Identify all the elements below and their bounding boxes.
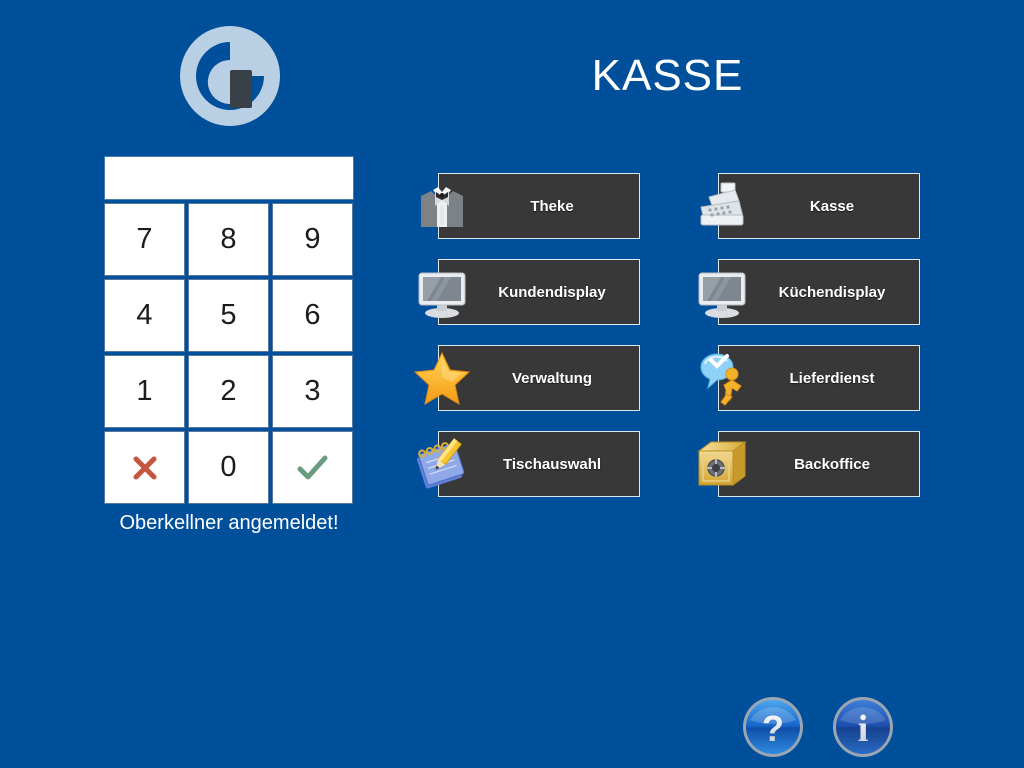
keypad-confirm-button[interactable] <box>272 431 353 504</box>
page-title: KASSE <box>440 48 895 104</box>
cash-register-icon <box>691 175 753 237</box>
menu-button-label: Kasse <box>784 198 854 215</box>
info-button[interactable]: i <box>832 696 894 758</box>
keypad-key-3[interactable]: 3 <box>272 355 353 428</box>
key-label: 4 <box>136 299 152 332</box>
menu-button-backoffice[interactable]: Backoffice <box>718 431 920 497</box>
key-label: 6 <box>304 299 320 332</box>
keypad-key-1[interactable]: 1 <box>104 355 185 428</box>
menu-button-kundendisplay[interactable]: Kundendisplay <box>438 259 640 325</box>
keypad-key-6[interactable]: 6 <box>272 279 353 352</box>
key-label: 0 <box>220 451 236 484</box>
menu-button-label: Theke <box>504 198 573 215</box>
menu-button-theke[interactable]: Theke <box>438 173 640 239</box>
menu-button-label: Tischauswahl <box>477 456 601 473</box>
menu-button-tischauswahl[interactable]: Tischauswahl <box>438 431 640 497</box>
safe-icon <box>691 433 753 495</box>
waiter-suit-icon <box>411 175 473 237</box>
keypad-key-2[interactable]: 2 <box>188 355 269 428</box>
bottom-icon-bar: ? i <box>742 696 894 758</box>
keypad-display-field[interactable] <box>104 156 354 200</box>
key-label: 1 <box>136 375 152 408</box>
svg-text:i: i <box>858 708 869 750</box>
monitor-icon <box>691 261 753 323</box>
keypad-key-8[interactable]: 8 <box>188 203 269 276</box>
menu-button-kasse[interactable]: Kasse <box>718 173 920 239</box>
help-button[interactable]: ? <box>742 696 804 758</box>
keypad-key-9[interactable]: 9 <box>272 203 353 276</box>
keypad-key-7[interactable]: 7 <box>104 203 185 276</box>
keypad-key-4[interactable]: 4 <box>104 279 185 352</box>
menu-button-lieferdienst[interactable]: Lieferdienst <box>718 345 920 411</box>
menu-button-label: Verwaltung <box>486 370 592 387</box>
menu-button-verwaltung[interactable]: Verwaltung <box>438 345 640 411</box>
delivery-person-phone-icon <box>691 347 753 409</box>
keypad-cancel-button[interactable] <box>104 431 185 504</box>
menu-button-label: Küchendisplay <box>753 284 886 301</box>
svg-text:?: ? <box>762 708 784 749</box>
menu-button-label: Lieferdienst <box>763 370 874 387</box>
key-label: 9 <box>304 223 320 256</box>
menu-button-label: Kundendisplay <box>472 284 606 301</box>
check-icon <box>294 451 332 485</box>
star-icon <box>411 347 473 409</box>
menu-column-left: Theke Kundendisplay <box>438 173 640 517</box>
key-label: 8 <box>220 223 236 256</box>
notepad-pencil-icon <box>411 433 473 495</box>
key-label: 3 <box>304 375 320 408</box>
key-label: 2 <box>220 375 236 408</box>
menu-button-kuechendisplay[interactable]: Küchendisplay <box>718 259 920 325</box>
keypad-panel: 7 8 9 4 5 6 1 2 3 <box>104 156 354 536</box>
keypad-key-0[interactable]: 0 <box>188 431 269 504</box>
company-logo <box>180 26 280 126</box>
menu-column-right: Kasse Küchendisplay Li <box>718 173 920 517</box>
cross-icon <box>128 451 162 485</box>
key-label: 5 <box>220 299 236 332</box>
key-label: 7 <box>136 223 152 256</box>
keypad-grid: 7 8 9 4 5 6 1 2 3 <box>104 203 354 504</box>
keypad-key-5[interactable]: 5 <box>188 279 269 352</box>
menu-button-label: Backoffice <box>768 456 870 473</box>
monitor-icon <box>411 261 473 323</box>
login-status-text: Oberkellner angemeldet! <box>104 510 354 536</box>
